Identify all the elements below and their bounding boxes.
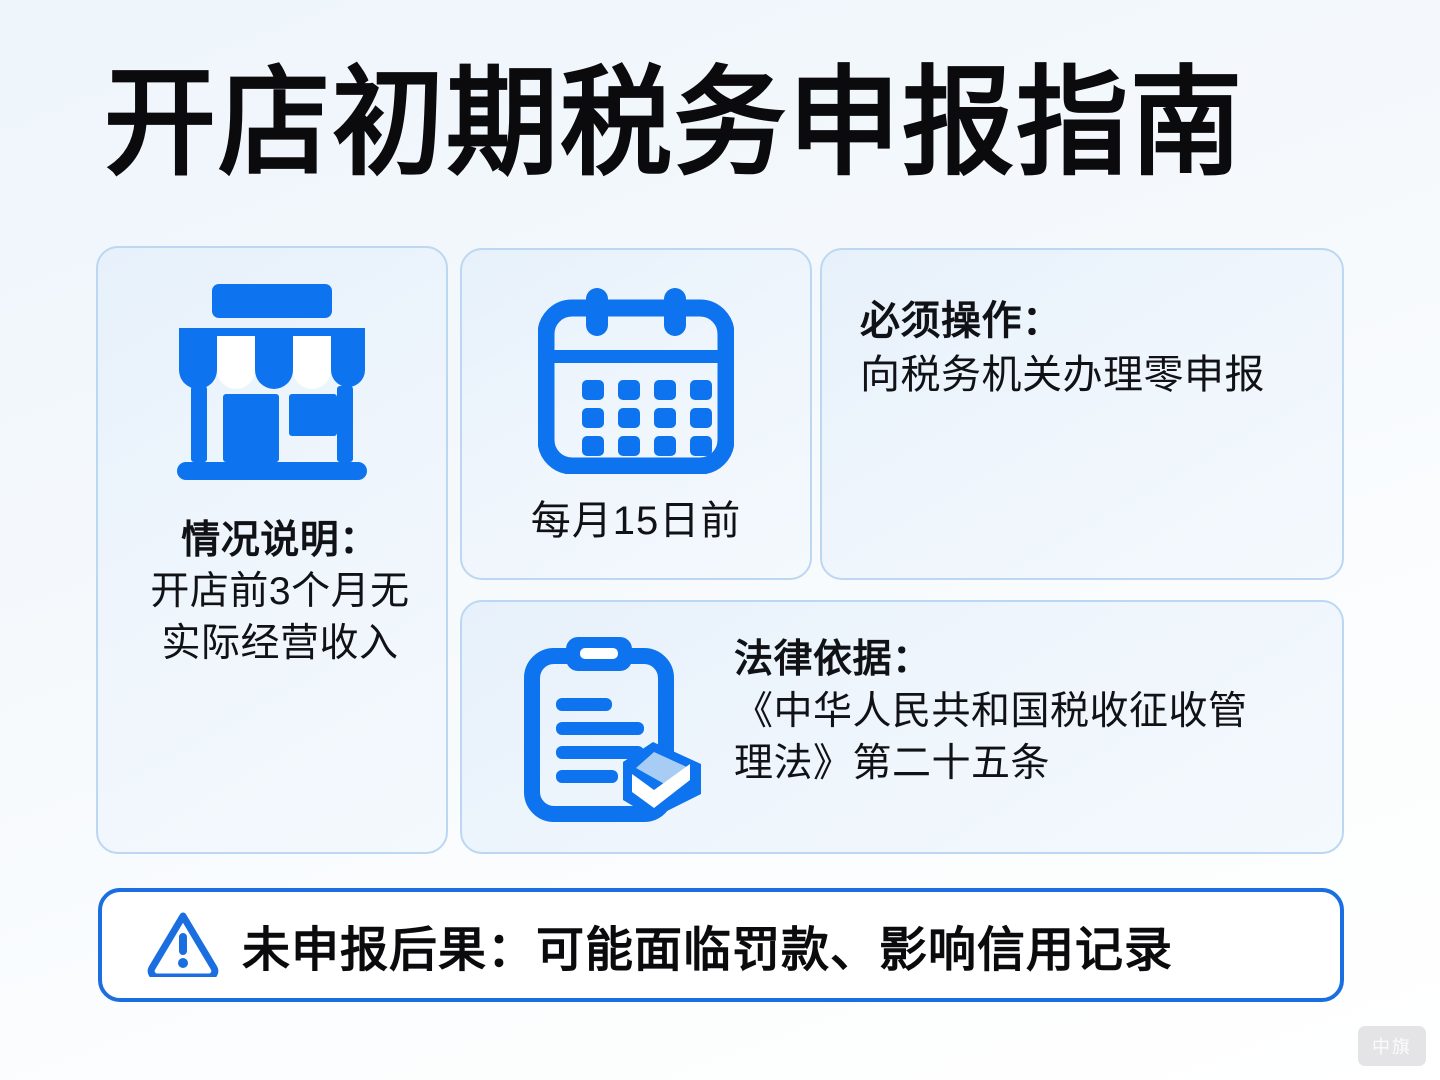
storefront-icon bbox=[167, 282, 377, 487]
situation-body-line1: 开店前3个月无 bbox=[120, 566, 440, 618]
action-text-block: 必须操作： 向税务机关办理零申报 bbox=[860, 294, 1326, 402]
warning-text: 未申报后果：可能面临罚款、影响信用记录 bbox=[242, 910, 1173, 980]
deadline-label: 每月15日前 bbox=[462, 488, 810, 546]
situation-text-block: 情况说明： 开店前3个月无 实际经营收入 bbox=[120, 516, 440, 670]
legal-body-line2: 理法》第二十五条 bbox=[734, 738, 1330, 789]
poster-root: 开店初期税务申报指南 bbox=[0, 0, 1440, 1080]
watermark-badge: 中旗 bbox=[1358, 1026, 1426, 1066]
clipboard-check-icon bbox=[518, 634, 708, 829]
legal-body-line1: 《中华人民共和国税收征收管 bbox=[734, 686, 1330, 737]
action-body: 向税务机关办理零申报 bbox=[860, 348, 1326, 402]
legal-heading: 法律依据： bbox=[734, 634, 1330, 686]
card-situation: 情况说明： 开店前3个月无 实际经营收入 bbox=[96, 246, 448, 854]
situation-body-line2: 实际经营收入 bbox=[120, 618, 440, 670]
warning-triangle-icon bbox=[146, 909, 220, 982]
card-legal: 法律依据： 《中华人民共和国税收征收管 理法》第二十五条 bbox=[460, 600, 1344, 854]
legal-text-block: 法律依据： 《中华人民共和国税收征收管 理法》第二十五条 bbox=[734, 634, 1330, 789]
page-title: 开店初期税务申报指南 bbox=[104, 58, 1244, 189]
action-heading: 必须操作： bbox=[860, 294, 1326, 348]
card-deadline: 每月15日前 bbox=[460, 248, 812, 580]
situation-heading: 情况说明： bbox=[120, 516, 440, 566]
card-action: 必须操作： 向税务机关办理零申报 bbox=[820, 248, 1344, 580]
calendar-icon bbox=[538, 286, 734, 479]
warning-banner: 未申报后果：可能面临罚款、影响信用记录 bbox=[98, 888, 1344, 1002]
